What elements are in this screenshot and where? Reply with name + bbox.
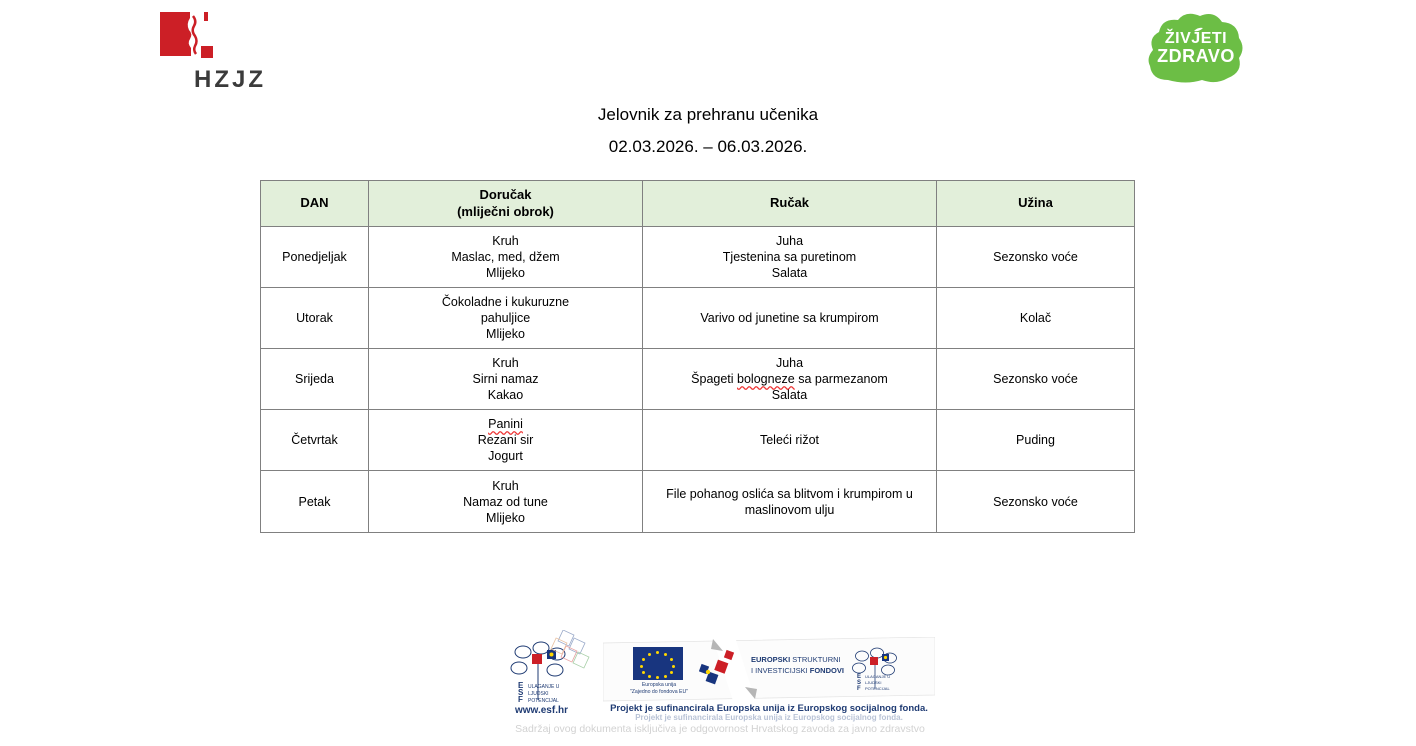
cell-uzina-cetvrtak: Puding (937, 410, 1135, 471)
svg-text:F: F (518, 695, 523, 704)
esi-text-line1: EUROPSKI STRUKTURNI (751, 655, 844, 666)
footer-eu-funding-block: E S F ULAGANJE U LJUDSKI POTENCIJAL www.… (505, 625, 935, 746)
menu-item: Kruh (373, 478, 638, 494)
menu-item: Jogurt (373, 448, 638, 464)
column-header-dan: DAN (261, 181, 369, 227)
cell-uzina-ponedjeljak: Sezonsko voće (937, 227, 1135, 288)
svg-text:F: F (857, 686, 861, 692)
menu-item: Panini (373, 416, 638, 432)
spellcheck-flagged-word: bologneze (737, 372, 795, 386)
esi-bold-2: FONDOVI (810, 666, 844, 675)
table-body: Ponedjeljak Kruh Maslac, med, džem Mlije… (261, 227, 1135, 533)
cell-day-petak: Petak (261, 471, 369, 533)
esi-text-line2: I INVESTICIJSKI FONDOVI (751, 666, 844, 677)
cell-rucak-ponedjeljak: Juha Tjestenina sa puretinom Salata (643, 227, 937, 288)
cell-dorucak-utorak: Čokoladne i kukuruzne pahuljice Mlijeko (369, 288, 643, 349)
menu-item: Salata (647, 265, 932, 281)
eu-flag-caption: Europska unija "Zajedno do fondova EU" (611, 682, 707, 696)
menu-item: Mlijeko (373, 265, 638, 281)
table-row: Utorak Čokoladne i kukuruzne pahuljice M… (261, 288, 1135, 349)
cloud-shape-icon (1146, 10, 1246, 85)
esi-thin-1: STRUKTURNI (790, 655, 840, 664)
eu-flag-icon (633, 647, 683, 680)
table-header: DAN Doručak (mliječni obrok) Ručak Užina (261, 181, 1135, 227)
weekly-menu-table: DAN Doručak (mliječni obrok) Ručak Užina… (260, 180, 1135, 533)
document-page: HZJZ ŽIVJETI ZDRAVO Jelovnik za prehranu… (0, 0, 1416, 746)
esi-fondovi-text: EUROPSKI STRUKTURNI I INVESTICIJSKI FOND… (751, 655, 844, 677)
cell-uzina-petak: Sezonsko voće (937, 471, 1135, 533)
column-header-dorucak-line1: Doručak (373, 187, 638, 204)
leaf-icon (1194, 27, 1203, 32)
menu-item: Sirni namaz (373, 371, 638, 387)
column-header-dorucak: Doručak (mliječni obrok) (369, 181, 643, 227)
esi-thin-2: I INVESTICIJSKI (751, 666, 810, 675)
project-funding-line-ghost: Projekt je sufinancirala Europska unija … (603, 713, 935, 722)
page-subtitle-daterange: 02.03.2026. – 06.03.2026. (0, 137, 1416, 157)
menu-item: Kruh (373, 355, 638, 371)
svg-text:LJUDSKI: LJUDSKI (865, 680, 881, 685)
cell-day-ponedjeljak: Ponedjeljak (261, 227, 369, 288)
menu-item: Rezani sir (373, 432, 638, 448)
svg-text:POTENCIJAL: POTENCIJAL (528, 698, 559, 704)
cell-dorucak-ponedjeljak: Kruh Maslac, med, džem Mlijeko (369, 227, 643, 288)
esf-website-url: www.esf.hr (515, 705, 568, 716)
esf-flower-logo-small-icon: E S F ULAGANJE U LJUDSKI POTENCIJAL (846, 645, 920, 693)
table-row: Ponedjeljak Kruh Maslac, med, džem Mlije… (261, 227, 1135, 288)
menu-item: pahuljice (373, 310, 638, 326)
table-header-row: DAN Doručak (mliječni obrok) Ručak Užina (261, 181, 1135, 227)
table-row: Četvrtak Panini Rezani sir Jogurt Teleći… (261, 410, 1135, 471)
esi-fondovi-mark-icon (699, 649, 745, 693)
svg-text:POTENCIJAL: POTENCIJAL (865, 686, 890, 691)
menu-item: Špageti bologneze sa parmezanom (647, 371, 932, 387)
svg-text:ULAGANJE U: ULAGANJE U (528, 684, 560, 690)
hzjz-wordmark: HZJZ (194, 66, 266, 94)
eu-funding-banner: Europska unija "Zajedno do fondova EU" E… (603, 637, 935, 715)
menu-item: Juha (647, 233, 932, 249)
cell-day-cetvrtak: Četvrtak (261, 410, 369, 471)
document-title-block: Jelovnik za prehranu učenika 02.03.2026.… (0, 105, 1416, 157)
cell-dorucak-cetvrtak: Panini Rezani sir Jogurt (369, 410, 643, 471)
menu-item: Kakao (373, 387, 638, 403)
cell-rucak-cetvrtak: Teleći rižot (643, 410, 937, 471)
menu-item: Tjestenina sa puretinom (647, 249, 932, 265)
cell-dorucak-petak: Kruh Namaz od tune Mlijeko (369, 471, 643, 533)
column-header-rucak: Ručak (643, 181, 937, 227)
menu-item: Salata (647, 387, 932, 403)
hzjz-logo: HZJZ (160, 12, 275, 88)
cell-rucak-petak: File pohanog oslića sa blitvom i krumpir… (643, 471, 937, 533)
cell-day-utorak: Utorak (261, 288, 369, 349)
menu-item: Maslac, med, džem (373, 249, 638, 265)
menu-item: File pohanog oslića sa blitvom i krumpir… (647, 486, 932, 502)
zivjeti-zdravo-logo: ŽIVJETI ZDRAVO (1146, 10, 1246, 85)
menu-item-text: Špageti (691, 372, 737, 386)
menu-item: Kruh (373, 233, 638, 249)
cell-day-srijeda: Srijeda (261, 349, 369, 410)
menu-item: Namaz od tune (373, 494, 638, 510)
cell-uzina-srijeda: Sezonsko voće (937, 349, 1135, 410)
svg-text:ULAGANJE U: ULAGANJE U (865, 674, 890, 679)
table-row: Petak Kruh Namaz od tune Mlijeko File po… (261, 471, 1135, 533)
cell-rucak-utorak: Varivo od junetine sa krumpirom (643, 288, 937, 349)
column-header-dorucak-line2: (mliječni obrok) (373, 204, 638, 221)
menu-item: maslinovom ulju (647, 502, 932, 518)
eu-caption-line1: Europska unija (611, 682, 707, 689)
cell-dorucak-srijeda: Kruh Sirni namaz Kakao (369, 349, 643, 410)
menu-item: Mlijeko (373, 510, 638, 526)
table-row: Srijeda Kruh Sirni namaz Kakao Juha Špag… (261, 349, 1135, 410)
page-title: Jelovnik za prehranu učenika (0, 105, 1416, 125)
menu-item: Juha (647, 355, 932, 371)
cell-uzina-utorak: Kolač (937, 288, 1135, 349)
spellcheck-flagged-word: Panini (488, 417, 523, 431)
eu-caption-line2: "Zajedno do fondova EU" (611, 689, 707, 696)
menu-item-text: sa parmezanom (795, 372, 888, 386)
menu-item: Čokoladne i kukuruzne (373, 294, 638, 310)
column-header-uzina: Užina (937, 181, 1135, 227)
svg-text:LJUDSKI: LJUDSKI (528, 691, 549, 697)
footer-disclaimer: Sadržaj ovog dokumenta isključiva je odg… (505, 723, 935, 735)
cell-rucak-srijeda: Juha Špageti bologneze sa parmezanom Sal… (643, 349, 937, 410)
hzjz-accent-square (201, 46, 213, 58)
esi-bold-1: EUROPSKI (751, 655, 790, 664)
menu-item: Mlijeko (373, 326, 638, 342)
